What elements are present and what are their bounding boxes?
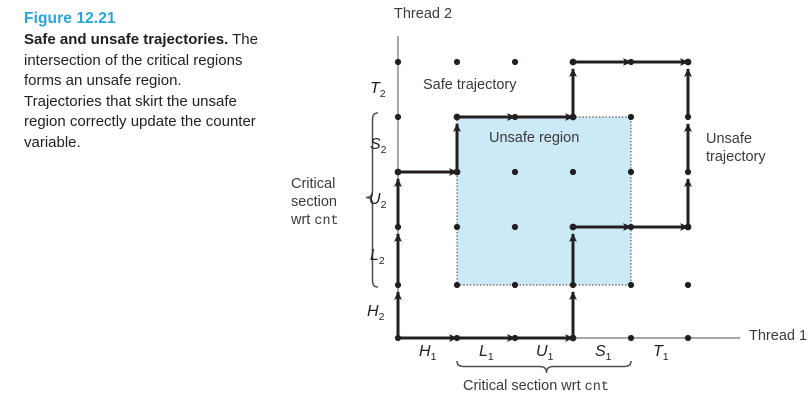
trajectory-diagram: Thread 2 Thread 1 Safe trajectory Unsafe… <box>0 0 811 419</box>
x-tick-label-S1: S1 <box>595 343 612 363</box>
y-axis-title: Thread 2 <box>394 6 452 22</box>
x-axis-title: Thread 1 <box>749 328 807 344</box>
diagram-canvas <box>0 0 811 419</box>
unsafe-trajectory-label-line2: trajectory <box>706 149 766 165</box>
y-tick-label-U2: U2 <box>369 191 386 211</box>
safe-trajectory-label: Safe trajectory <box>423 77 517 93</box>
x-brace-cnt-mono: cnt <box>585 380 609 395</box>
x-tick-label-L1: L1 <box>479 343 494 363</box>
x-tick-label-T1: T1 <box>653 343 669 363</box>
unsafe-region-label: Unsafe region <box>489 130 579 146</box>
x-tick-label-U1: U1 <box>536 343 553 363</box>
y-brace-label-line1: Critical <box>291 176 335 192</box>
y-brace-cnt-mono: cnt <box>314 214 338 229</box>
x-tick-label-H1: H1 <box>419 343 436 363</box>
y-brace-label-line3: wrt cnt <box>291 212 339 229</box>
y-tick-label-H2: H2 <box>367 303 384 323</box>
y-tick-label-S2: S2 <box>370 136 387 156</box>
y-tick-label-T2: T2 <box>370 80 386 100</box>
y-brace-label-line2: section <box>291 194 337 210</box>
unsafe-trajectory-label-line1: Unsafe <box>706 131 752 147</box>
y-tick-label-L2: L2 <box>370 247 385 267</box>
x-brace-label: Critical section wrt cnt <box>463 378 609 395</box>
